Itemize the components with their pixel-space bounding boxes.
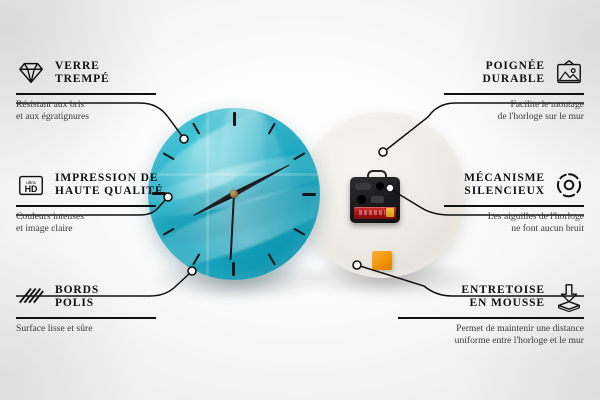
gear-icon — [554, 170, 584, 200]
callout-title: VERRE TREMPÉ — [55, 60, 110, 87]
callout-impression-haute-qualite[interactable]: ultra HD IMPRESSION DE HAUTE QUALITÉ Cou… — [16, 170, 156, 235]
battery — [354, 207, 396, 219]
callout-subtitle: Les aiguilles de l'horloge — [444, 211, 584, 223]
turquoise-feather-clock-face[interactable] — [148, 108, 320, 280]
foam-spacer-icon — [554, 282, 584, 312]
ultra-hd-icon: ultra HD — [16, 170, 46, 200]
callout-subtitle: et image claire — [16, 223, 156, 235]
movement-detail — [355, 183, 371, 190]
movement-detail — [357, 195, 366, 204]
callout-subtitle: de l'horloge sur le mur — [444, 111, 584, 123]
movement-detail — [371, 196, 384, 203]
callout-subtitle: et aux égratignures — [16, 111, 156, 123]
callout-subtitle: uniforme entre l'horloge et le mur — [398, 335, 584, 347]
callout-divider — [398, 317, 584, 319]
polished-edges-icon — [16, 282, 46, 312]
callout-header: POIGNÉE DURABLE — [444, 58, 584, 88]
callout-header: VERRE TREMPÉ — [16, 58, 156, 88]
infographic-canvas: VERRE TREMPÉ Résistant aux bris et aux é… — [0, 0, 600, 400]
callout-bords-polis[interactable]: BORDS POLIS Surface lisse et sûre — [16, 282, 156, 335]
callout-divider — [16, 317, 156, 319]
callout-header: ultra HD IMPRESSION DE HAUTE QUALITÉ — [16, 170, 156, 200]
callout-entretoise-en-mousse[interactable]: ENTRETOISE EN MOUSSE Permet de maintenir… — [398, 282, 584, 347]
callout-header: MÉCANISME SILENCIEUX — [444, 170, 584, 200]
callout-subtitle: Résistant aux bris — [16, 99, 156, 111]
movement-detail — [388, 184, 395, 190]
callout-subtitle: Couleurs intenses — [16, 211, 156, 223]
movement-detail — [376, 182, 384, 190]
callout-header: BORDS POLIS — [16, 282, 156, 312]
callout-mecanisme-silencieux[interactable]: MÉCANISME SILENCIEUX Les aiguilles de l'… — [444, 170, 584, 235]
callout-divider — [16, 205, 156, 207]
callout-title: IMPRESSION DE HAUTE QUALITÉ — [55, 172, 164, 199]
picture-frame-hanger-icon — [554, 58, 584, 88]
quartz-movement[interactable] — [350, 177, 400, 223]
callout-header: ENTRETOISE EN MOUSSE — [398, 282, 584, 312]
foam-spacer[interactable] — [372, 251, 392, 270]
callout-title: MÉCANISME SILENCIEUX — [464, 172, 545, 199]
battery-label — [359, 210, 385, 215]
callout-divider — [444, 93, 584, 95]
callout-subtitle: Facilite le montage — [444, 99, 584, 111]
svg-text:HD: HD — [25, 184, 38, 194]
callout-verre-trempe[interactable]: VERRE TREMPÉ Résistant aux bris et aux é… — [16, 58, 156, 123]
callout-poignee-durable[interactable]: POIGNÉE DURABLE Facilite le montage de l… — [444, 58, 584, 123]
battery-positive-terminal — [386, 208, 394, 217]
clock-center-cap — [230, 190, 238, 198]
diamond-icon — [16, 58, 46, 88]
callout-title: BORDS POLIS — [55, 284, 99, 311]
callout-divider — [16, 93, 156, 95]
callout-title: ENTRETOISE EN MOUSSE — [461, 284, 545, 311]
movement-hanger-icon — [367, 170, 387, 182]
clock-tick — [152, 193, 234, 195]
callout-subtitle: ne font aucun bruit — [444, 223, 584, 235]
callout-subtitle: Permet de maintenir une distance — [398, 323, 584, 335]
callout-title: POIGNÉE DURABLE — [482, 60, 545, 87]
clock-tick — [233, 112, 235, 194]
callout-subtitle: Surface lisse et sûre — [16, 323, 156, 335]
clock-tick — [234, 193, 316, 195]
callout-divider — [444, 205, 584, 207]
